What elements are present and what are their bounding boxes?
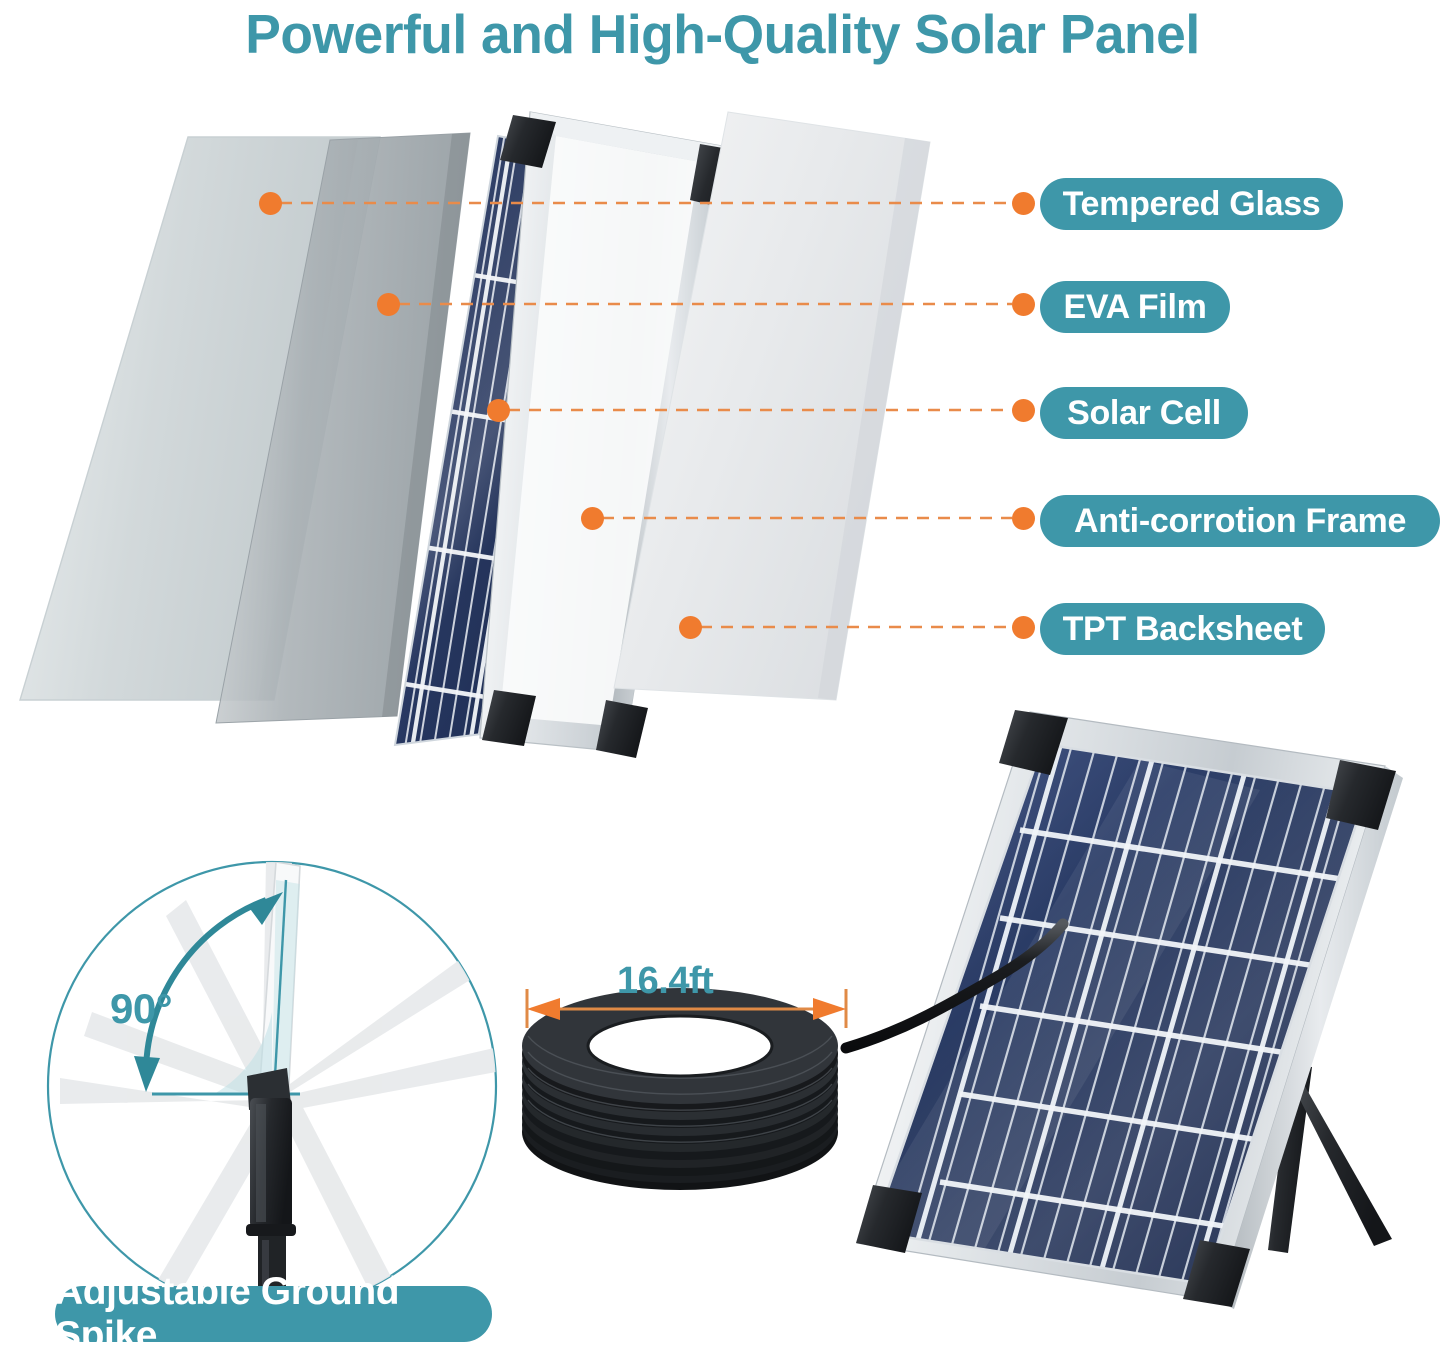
page-title: Powerful and High-Quality Solar Panel	[22, 2, 1424, 66]
callout-endpoint-dot-solar-cell	[1012, 399, 1035, 422]
callout-label-tpt-backsheet: TPT Backsheet	[1040, 603, 1325, 655]
callout-label-text: Solar Cell	[1067, 396, 1221, 430]
callout-endpoint-dot-tempered-glass	[1012, 192, 1035, 215]
callout-label-eva-film: EVA Film	[1040, 281, 1230, 333]
ground-spike-caption-text: Adjustable Ground Spike	[55, 1270, 492, 1358]
callout-endpoint-dot-eva-film	[1012, 293, 1035, 316]
callout-dot-tpt-backsheet	[679, 616, 702, 639]
callout-label-text: EVA Film	[1063, 290, 1206, 324]
callout-dot-solar-cell	[487, 399, 510, 422]
callout-dot-anti-corrosion-frame	[581, 507, 604, 530]
infographic-canvas: Powerful and High-Quality Solar Panel Te…	[0, 0, 1445, 1346]
ground-spike-detail	[48, 860, 496, 1332]
callout-dot-eva-film	[377, 293, 400, 316]
main-solar-panel	[850, 700, 1420, 1346]
ground-spike-caption: Adjustable Ground Spike	[55, 1286, 492, 1342]
cable-length-label: 16.4ft	[617, 960, 713, 1003]
callout-endpoint-dot-tpt-backsheet	[1012, 616, 1035, 639]
callout-label-anti-corrosion-frame: Anti-corrotion Frame	[1040, 495, 1440, 547]
callout-endpoint-dot-anti-corrosion-frame	[1012, 507, 1035, 530]
callout-label-text: TPT Backsheet	[1063, 612, 1303, 646]
callout-label-tempered-glass: Tempered Glass	[1040, 178, 1343, 230]
callout-label-text: Anti-corrotion Frame	[1074, 504, 1406, 538]
rotation-angle-label: 90°	[110, 985, 172, 1033]
callout-label-solar-cell: Solar Cell	[1040, 387, 1248, 439]
callout-dot-tempered-glass	[259, 192, 282, 215]
callout-label-text: Tempered Glass	[1063, 187, 1321, 221]
